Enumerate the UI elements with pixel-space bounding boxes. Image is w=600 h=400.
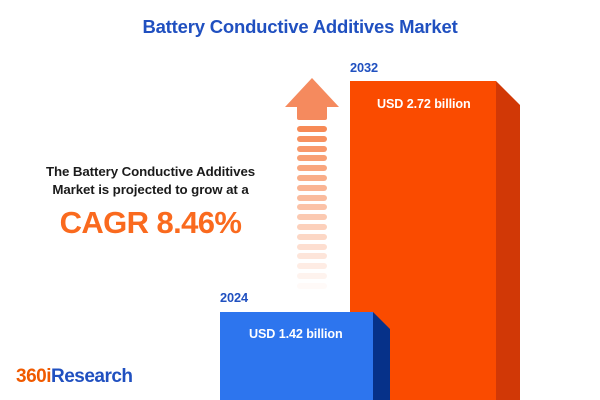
cagr-callout: The Battery Conductive Additives Market … bbox=[8, 163, 293, 241]
infographic-canvas: Battery Conductive Additives Market The … bbox=[0, 0, 600, 400]
cagr-lead-line-2: Market is projected to grow at a bbox=[52, 182, 248, 197]
arrow-stripe bbox=[297, 155, 327, 161]
arrow-stripe bbox=[297, 244, 327, 250]
upward-growth-arrow-icon bbox=[285, 78, 339, 290]
brand-logo[interactable]: 360iResearch bbox=[16, 366, 133, 388]
arrow-stripe bbox=[297, 165, 327, 171]
arrow-stripe bbox=[297, 175, 327, 181]
arrow-stripe bbox=[297, 273, 327, 279]
arrow-stripe bbox=[297, 214, 327, 220]
bar-2032-side-face bbox=[496, 81, 520, 400]
bar-2024-front-face bbox=[220, 312, 373, 400]
arrow-stripe bbox=[297, 283, 327, 289]
cagr-value: CAGR 8.46% bbox=[8, 205, 293, 241]
arrow-stripe bbox=[297, 234, 327, 240]
arrow-stripe bbox=[297, 253, 327, 259]
cagr-lead-line-1: The Battery Conductive Additives bbox=[46, 164, 255, 179]
arrow-stripe bbox=[297, 263, 327, 269]
arrow-stripe bbox=[297, 185, 327, 191]
logo-text-360i: 360i bbox=[16, 366, 51, 387]
arrow-head-triangle bbox=[285, 78, 339, 107]
arrow-stripe bbox=[297, 204, 327, 210]
arrow-stripe bbox=[297, 224, 327, 230]
bar-2024-year-label: 2024 bbox=[220, 290, 248, 305]
arrow-stripe bbox=[297, 195, 327, 201]
arrow-stripe bbox=[297, 146, 327, 152]
bar-2024-value-label: USD 1.42 billion bbox=[249, 327, 343, 341]
cagr-lead-text: The Battery Conductive Additives Market … bbox=[8, 163, 293, 199]
arrow-stripe bbox=[297, 126, 327, 132]
arrow-stripe bbox=[297, 293, 327, 299]
logo-text-research: Research bbox=[51, 366, 133, 387]
arrow-stripe bbox=[297, 136, 327, 142]
page-title: Battery Conductive Additives Market bbox=[0, 16, 600, 38]
arrow-neck bbox=[297, 106, 327, 120]
bar-2032-value-label: USD 2.72 billion bbox=[377, 97, 471, 111]
bar-2032-year-label: 2032 bbox=[350, 60, 378, 75]
